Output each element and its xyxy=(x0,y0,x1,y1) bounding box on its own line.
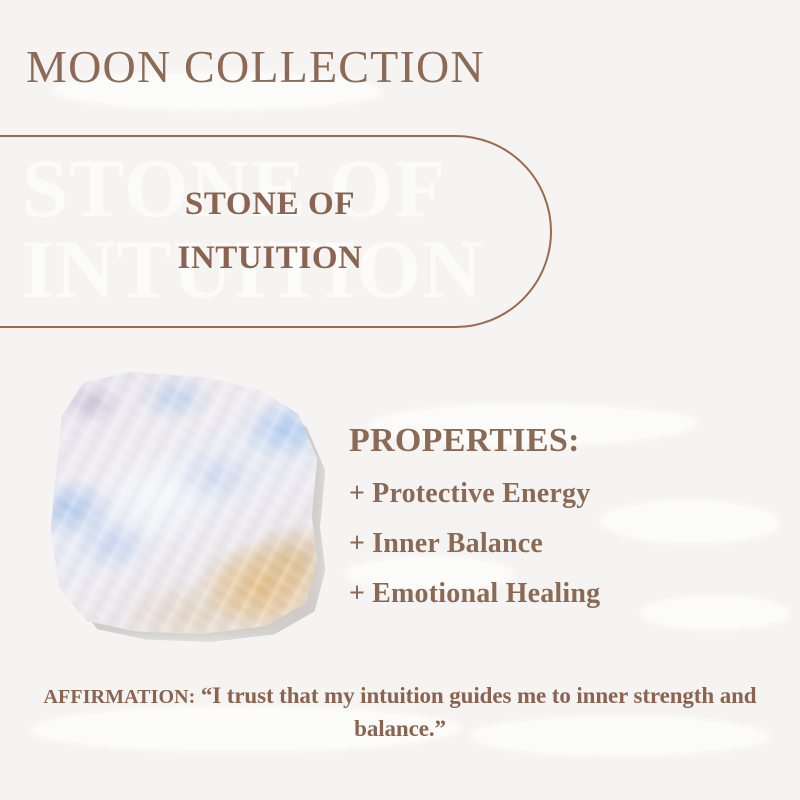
affirmation-label: AFFIRMATION: xyxy=(44,686,196,708)
page-title: MOON COLLECTION xyxy=(26,44,485,90)
plus-icon: + xyxy=(349,528,365,559)
properties-section: PROPERTIES: +Protective Energy +Inner Ba… xyxy=(349,424,769,608)
property-label: Protective Energy xyxy=(372,478,590,509)
stone-body xyxy=(48,372,320,634)
plus-icon: + xyxy=(349,578,365,609)
stone-texture-overlay xyxy=(48,372,320,634)
plus-icon: + xyxy=(349,478,365,509)
stone-image xyxy=(48,372,330,644)
property-label: Inner Balance xyxy=(372,528,543,559)
property-label: Emotional Healing xyxy=(372,578,600,609)
stone-name-heading: STONE OF INTUITION xyxy=(10,178,530,286)
property-item: +Emotional Healing xyxy=(349,580,769,608)
affirmation-section: AFFIRMATION: “I trust that my intuition … xyxy=(30,680,770,745)
affirmation-quote: “I trust that my intuition guides me to … xyxy=(201,683,757,741)
crystal-info-card: STONE OF INTUITION MOON COLLECTION STONE… xyxy=(0,0,800,800)
property-item: +Protective Energy xyxy=(349,480,769,508)
properties-heading: PROPERTIES: xyxy=(349,424,769,458)
property-item: +Inner Balance xyxy=(349,530,769,558)
